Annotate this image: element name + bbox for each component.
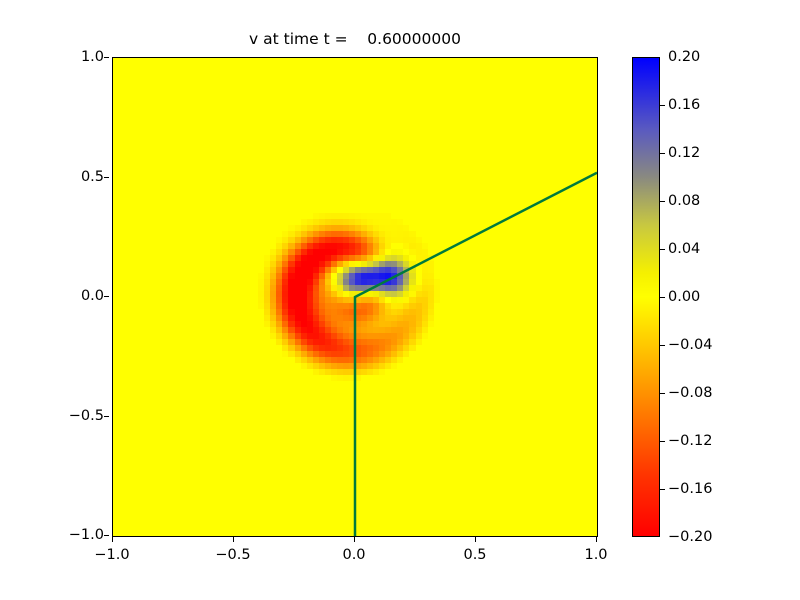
y-tick-mark [104, 57, 109, 58]
colorbar-tick-mark [660, 441, 665, 442]
colorbar-tick-mark [660, 201, 665, 202]
y-tick-label: 0.0 [81, 288, 104, 304]
colorbar-tick-mark [660, 489, 665, 490]
x-tick-label: −0.5 [215, 547, 250, 563]
y-axis-tick-labels: −1.0−0.50.00.51.0 [40, 57, 104, 537]
colorbar-tick-mark [660, 345, 665, 346]
x-tick-mark [475, 537, 476, 542]
colorbar-tick-label: 0.12 [668, 145, 700, 161]
colorbar-tick-label: −0.16 [668, 481, 712, 497]
x-axis-tick-labels: −1.0−0.50.00.51.0 [112, 542, 598, 566]
plot-axes-area [112, 57, 598, 537]
x-tick-mark [112, 537, 113, 542]
y-tick-mark [104, 296, 109, 297]
plot-title: v at time t = 0.60000000 [112, 30, 598, 48]
colorbar-tick-label: −0.04 [668, 337, 712, 353]
y-tick-mark [104, 177, 109, 178]
colorbar-tick-label: 0.20 [668, 49, 700, 65]
interface-line [355, 173, 597, 536]
colorbar-tick-label: 0.08 [668, 193, 700, 209]
colorbar-gradient [633, 58, 659, 536]
x-tick-mark [596, 537, 597, 542]
colorbar-tick-mark [660, 153, 665, 154]
y-tick-label: −1.0 [69, 527, 104, 543]
colorbar-tick-mark [660, 105, 665, 106]
colorbar-tick-label: −0.20 [668, 529, 712, 545]
colorbar-tick-mark [660, 249, 665, 250]
y-tick-mark [104, 535, 109, 536]
colorbar-tick-mark [660, 393, 665, 394]
colorbar-tick-label: 0.04 [668, 241, 700, 257]
x-tick-mark [354, 537, 355, 542]
x-tick-label: 1.0 [584, 547, 607, 563]
figure-canvas: v at time t = 0.60000000 −1.0−0.50.00.51… [0, 0, 800, 600]
x-tick-label: 0.0 [342, 547, 365, 563]
colorbar-tick-mark [660, 297, 665, 298]
y-tick-label: 1.0 [81, 49, 104, 65]
x-tick-label: −1.0 [94, 547, 129, 563]
y-tick-label: −0.5 [69, 408, 104, 424]
colorbar-tick-labels: 0.200.160.120.080.040.00−0.04−0.08−0.12−… [660, 57, 740, 537]
interface-line-overlay [113, 58, 597, 536]
colorbar-tick-label: 0.00 [668, 289, 700, 305]
x-tick-mark [233, 537, 234, 542]
colorbar-tick-label: −0.08 [668, 385, 712, 401]
colorbar-tick-label: 0.16 [668, 97, 700, 113]
y-tick-mark [104, 416, 109, 417]
x-tick-label: 0.5 [463, 547, 486, 563]
colorbar [632, 57, 660, 537]
colorbar-tick-label: −0.12 [668, 433, 712, 449]
y-tick-label: 0.5 [81, 169, 104, 185]
